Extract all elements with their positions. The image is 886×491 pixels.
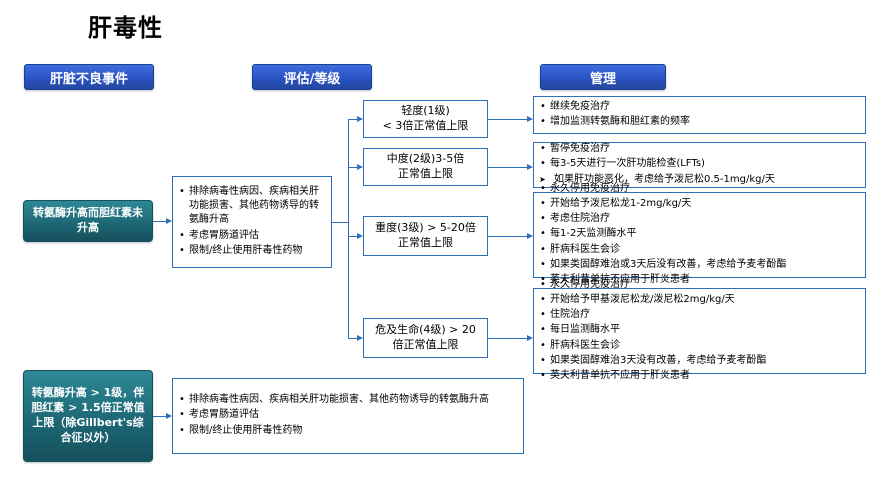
grade-line-1: 轻度(1级)	[364, 104, 487, 119]
list-item: 排除病毒性病因、疾病相关肝功能损害、其他药物诱导的转氨酶升高	[189, 393, 489, 407]
list-item: 每3-5天进行一次肝功能检查(LFTs)	[550, 157, 775, 171]
list-item: 住院治疗	[550, 308, 766, 322]
connector-line	[488, 119, 527, 120]
connector-arrow	[527, 164, 533, 170]
connector-line	[348, 119, 357, 120]
list-item: 开始给予甲基泼尼松龙/泼尼松2mg/kg/天	[550, 293, 766, 307]
grade-line-2: 倍正常值上限	[364, 338, 487, 353]
connector-arrow	[357, 233, 363, 239]
list-item: 暂停免疫治疗	[550, 142, 775, 156]
connector-line	[488, 338, 527, 339]
connector-arrow	[357, 116, 363, 122]
list-item: 限制/终止使用肝毒性药物	[189, 424, 489, 438]
grade-line-1: 中度(2级)3-5倍	[364, 152, 487, 167]
list-item: 考虑住院治疗	[550, 212, 786, 226]
grade-box-4: 危及生命(4级) > 20 倍正常值上限	[363, 318, 488, 358]
list-item: 英夫利昔单抗不应用于肝炎患者	[550, 369, 766, 383]
connector-line	[348, 338, 357, 339]
grade-box-1: 轻度(1级) < 3倍正常值上限	[363, 100, 488, 138]
connector-arrow	[166, 413, 172, 419]
management-list-1: 继续免疫治疗 增加监测转氨酶和胆红素的频率	[534, 100, 694, 130]
management-box-4: 永久停用免疫治疗 开始给予甲基泼尼松龙/泼尼松2mg/kg/天 住院治疗 每日监…	[533, 288, 866, 374]
header-label: 肝脏不良事件	[50, 68, 128, 87]
list-item: 肝病科医生会诊	[550, 243, 786, 257]
connector-arrow	[357, 164, 363, 170]
list-item: 考虑胃肠道评估	[189, 229, 327, 243]
left-box-label: 转氨酶升高而胆红素未升高	[30, 206, 146, 236]
grade-line-2: 正常值上限	[364, 236, 487, 251]
grade-box-3: 重度(3级) > 5-20倍 正常值上限	[363, 216, 488, 256]
connector-arrow	[166, 218, 172, 224]
header-hepatic-adverse-events: 肝脏不良事件	[24, 64, 154, 90]
management-box-1: 继续免疫治疗 增加监测转氨酶和胆红素的频率	[533, 96, 866, 134]
left-box-transaminase-elevation: 转氨酶升高而胆红素未升高	[23, 200, 153, 242]
list-item: 永久停用免疫治疗	[550, 278, 766, 292]
left-box-label: 转氨酶升高 > 1级，伴胆红素 > 1.5倍正常值上限（除Gillbert's综…	[30, 386, 146, 445]
connector-arrow	[527, 116, 533, 122]
list-item: 排除病毒性病因、疾病相关肝功能损害、其他药物诱导的转氨酶升高	[189, 185, 327, 228]
list-item: 每1-2天监测酶水平	[550, 227, 786, 241]
grade-line-2: < 3倍正常值上限	[364, 119, 487, 134]
management-box-3: 永久停用免疫治疗 开始给予泼尼松龙1-2mg/kg/天 考虑住院治疗 每1-2天…	[533, 192, 866, 278]
header-label: 评估/等级	[284, 68, 341, 87]
header-label: 管理	[590, 68, 616, 87]
grade-line-1: 重度(3级) > 5-20倍	[364, 221, 487, 236]
connector-line	[488, 167, 527, 168]
criteria-list-2: 排除病毒性病因、疾病相关肝功能损害、其他药物诱导的转氨酶升高 考虑胃肠道评估 限…	[173, 393, 493, 439]
management-list-4: 永久停用免疫治疗 开始给予甲基泼尼松龙/泼尼松2mg/kg/天 住院治疗 每日监…	[534, 278, 770, 384]
connector-line	[348, 167, 357, 168]
list-item: 如果类固醇难治3天没有改善，考虑给予麦考酚酯	[550, 354, 766, 368]
grade-line-1: 危及生命(4级) > 20	[364, 323, 487, 338]
page-title: 肝毒性	[88, 8, 163, 43]
list-item: 限制/终止使用肝毒性药物	[189, 244, 327, 258]
list-item: 永久停用免疫治疗	[550, 182, 786, 196]
connector-line	[488, 236, 527, 237]
criteria-box-1: 排除病毒性病因、疾病相关肝功能损害、其他药物诱导的转氨酶升高 考虑胃肠道评估 限…	[172, 176, 332, 268]
grade-line-2: 正常值上限	[364, 167, 487, 182]
criteria-box-2: 排除病毒性病因、疾病相关肝功能损害、其他药物诱导的转氨酶升高 考虑胃肠道评估 限…	[172, 378, 524, 454]
connector-arrow	[527, 335, 533, 341]
connector-line	[332, 222, 348, 223]
list-item: 开始给予泼尼松龙1-2mg/kg/天	[550, 197, 786, 211]
connector-arrow	[527, 233, 533, 239]
list-item: 肝病科医生会诊	[550, 339, 766, 353]
left-box-transaminase-with-bilirubin: 转氨酶升高 > 1级，伴胆红素 > 1.5倍正常值上限（除Gillbert's综…	[23, 370, 153, 462]
list-item: 增加监测转氨酶和胆红素的频率	[550, 115, 690, 129]
management-list-3: 永久停用免疫治疗 开始给予泼尼松龙1-2mg/kg/天 考虑住院治疗 每1-2天…	[534, 182, 790, 288]
list-item: 每日监测酶水平	[550, 323, 766, 337]
connector-line	[348, 236, 357, 237]
connector-trunk	[348, 119, 349, 338]
list-item: 考虑胃肠道评估	[189, 408, 489, 422]
header-management: 管理	[540, 64, 666, 90]
connector-arrow	[357, 335, 363, 341]
connector-line	[153, 221, 166, 222]
grade-box-2: 中度(2级)3-5倍 正常值上限	[363, 148, 488, 186]
list-item: 如果类固醇难治或3天后没有改善，考虑给予麦考酚酯	[550, 258, 786, 272]
connector-line	[153, 416, 166, 417]
list-item: 继续免疫治疗	[550, 100, 690, 114]
criteria-list-1: 排除病毒性病因、疾病相关肝功能损害、其他药物诱导的转氨酶升高 考虑胃肠道评估 限…	[173, 185, 331, 259]
header-assessment-grade: 评估/等级	[252, 64, 372, 90]
